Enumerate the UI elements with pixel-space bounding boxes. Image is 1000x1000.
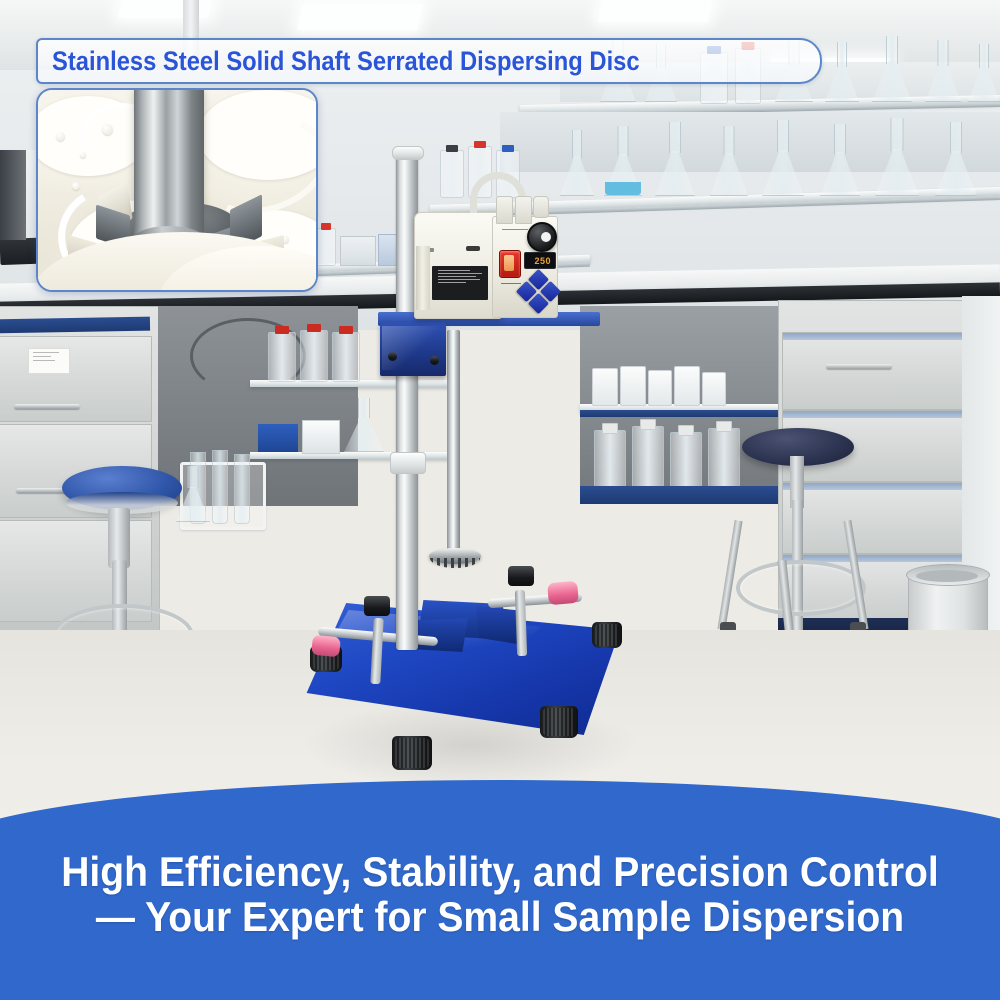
storage-jar	[674, 366, 700, 406]
conical-flask	[560, 130, 594, 196]
conical-flask	[762, 120, 804, 196]
drawer-accent	[783, 483, 963, 490]
drawer-handle	[14, 404, 80, 409]
wash-bottle	[594, 430, 626, 488]
hose-cap	[533, 196, 549, 218]
motor-housing-vent	[466, 246, 480, 251]
monitor-edge	[0, 150, 26, 240]
waste-bin-liner	[916, 570, 978, 582]
storage-jar	[702, 372, 726, 406]
cabinet-drawer	[0, 336, 152, 422]
stool-footring-right	[736, 560, 866, 616]
post-collar	[390, 452, 426, 474]
power-switch-glyph	[504, 255, 514, 271]
vessel-holder-arm	[476, 606, 520, 644]
reagent-bottle	[268, 332, 296, 382]
product-marketing-image: 250 Stainless Steel Solid Shaft Serrated…	[0, 0, 1000, 1000]
wash-bottle	[670, 432, 702, 488]
storage-box	[258, 424, 298, 452]
conical-flask	[825, 42, 859, 102]
base-foot	[592, 622, 622, 648]
conical-flask	[604, 126, 642, 196]
reagent-bottle	[440, 150, 464, 198]
cabinet-accent-stripe	[0, 317, 150, 334]
speed-display-value: 250	[534, 256, 551, 266]
hose-port-left	[496, 196, 513, 224]
mount-screw	[388, 352, 397, 361]
tagline-line-1: High Efficiency, Stability, and Precisio…	[35, 850, 965, 895]
test-tube	[234, 454, 250, 524]
storage-box	[302, 420, 340, 454]
stainless-shaft	[134, 88, 204, 238]
clamp-knob	[364, 596, 390, 616]
reagent-bottle	[316, 228, 336, 266]
stool-post-left	[108, 508, 130, 568]
conical-flask	[710, 126, 748, 196]
conical-flask	[344, 398, 384, 452]
drawer-accent	[783, 333, 963, 340]
base-foot	[540, 706, 578, 738]
drawer-label	[28, 348, 70, 374]
page-title: Stainless Steel Solid Shaft Serrated Dis…	[52, 48, 640, 75]
motor-housing-column	[416, 246, 430, 310]
conical-flask	[820, 124, 860, 196]
mount-screw	[430, 356, 439, 365]
cabinet-drawer	[782, 332, 964, 410]
drawer-accent	[783, 411, 963, 418]
conical-flask	[176, 466, 210, 522]
bottom-banner: High Efficiency, Stability, and Precisio…	[0, 780, 1000, 1000]
clamp-end-cap	[311, 635, 341, 658]
test-tube	[212, 450, 228, 524]
bench-kickplate-right	[580, 486, 790, 504]
tagline-line-2: — Your Expert for Small Sample Dispersio…	[35, 895, 965, 940]
conical-flask	[968, 44, 1000, 102]
storage-jar	[648, 370, 672, 406]
speed-display: 250	[524, 252, 556, 269]
storage-box	[340, 236, 376, 266]
cabinet-drawer	[782, 482, 964, 554]
dispersing-shaft	[447, 330, 460, 560]
hose-port-right	[515, 196, 532, 224]
reagent-bottle	[300, 330, 328, 382]
storage-jar	[620, 366, 646, 406]
wash-bottle	[708, 428, 740, 488]
shelf-accent	[580, 410, 780, 417]
title-banner: Stainless Steel Solid Shaft Serrated Dis…	[36, 38, 822, 84]
clamp-end-cap	[547, 581, 579, 606]
cream-droplet	[72, 182, 80, 190]
bottom-banner-text: High Efficiency, Stability, and Precisio…	[0, 850, 1000, 939]
clamp-knob	[508, 566, 534, 586]
storage-jar	[592, 368, 618, 406]
conical-flask	[875, 118, 919, 196]
base-foot	[392, 736, 432, 770]
conical-flask	[655, 122, 695, 196]
ceiling-light	[598, 0, 713, 22]
cream-droplet	[56, 132, 65, 141]
speed-dial	[527, 222, 557, 252]
wash-bottle	[632, 426, 664, 488]
drawer-handle	[826, 364, 892, 369]
ceiling-light	[297, 4, 423, 30]
conical-flask	[935, 122, 977, 196]
disc-closeup-inset	[36, 88, 318, 292]
conical-flask	[872, 36, 912, 102]
post-top-cap	[392, 146, 424, 160]
stool-leg	[717, 520, 742, 630]
motor-nameplate	[432, 266, 488, 300]
conical-flask	[925, 40, 961, 102]
reagent-bottle	[332, 332, 360, 382]
cream-droplet	[80, 152, 86, 158]
